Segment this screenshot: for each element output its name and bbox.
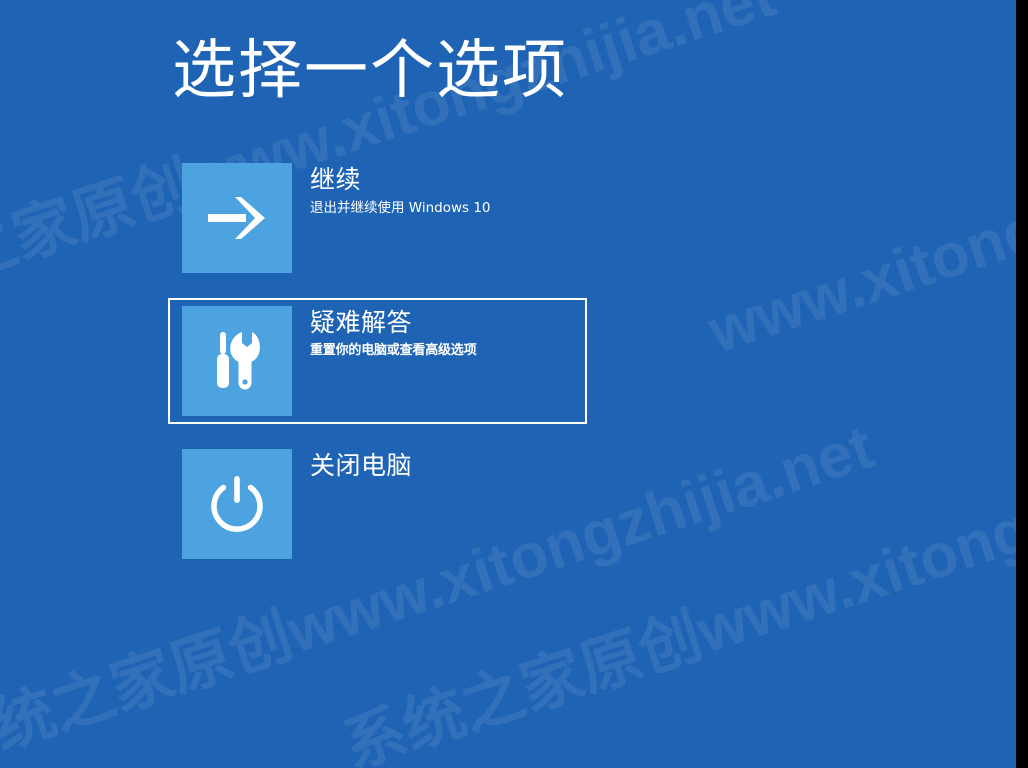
option-text: 继续 退出并继续使用 Windows 10 (292, 163, 491, 218)
option-troubleshoot[interactable]: 疑难解答 重置你的电脑或查看高级选项 (168, 298, 587, 424)
option-title: 关闭电脑 (310, 451, 412, 481)
option-tile (182, 449, 292, 559)
option-title: 疑难解答 (310, 308, 476, 338)
arrow-right-icon (205, 189, 269, 247)
power-icon (206, 473, 268, 535)
option-tile (182, 306, 292, 416)
recovery-screen: 之家原创www.xitongzhijia.net www.xitongzhiji… (0, 0, 1016, 768)
option-text: 关闭电脑 (292, 449, 412, 481)
wrench-screwdriver-icon (208, 330, 266, 392)
option-title: 继续 (310, 165, 491, 195)
option-text: 疑难解答 重置你的电脑或查看高级选项 (292, 306, 476, 361)
option-tile (182, 163, 292, 273)
option-subtitle: 重置你的电脑或查看高级选项 (310, 341, 476, 361)
option-turn-off-pc[interactable]: 关闭电脑 (168, 441, 587, 567)
option-subtitle: 退出并继续使用 Windows 10 (310, 198, 491, 218)
page-title: 选择一个选项 (172, 38, 568, 105)
option-list: 继续 退出并继续使用 Windows 10 (168, 155, 768, 584)
option-continue[interactable]: 继续 退出并继续使用 Windows 10 (168, 155, 587, 281)
